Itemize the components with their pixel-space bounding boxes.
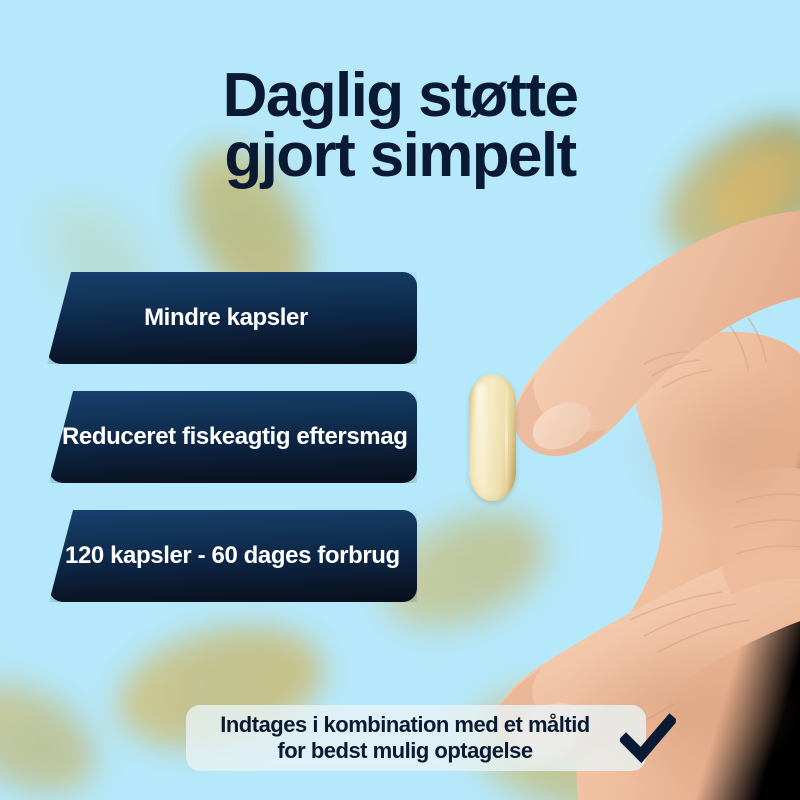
capsule	[469, 374, 516, 501]
check-icon	[620, 712, 676, 768]
feature-badge-label: 120 kapsler - 60 dages forbrug	[49, 542, 417, 570]
usage-note-line-2: for bedst mulig optagelse	[220, 738, 590, 764]
feature-badge-smaller-capsules[interactable]: Mindre kapsler	[47, 272, 417, 364]
middle-finger	[720, 467, 800, 594]
usage-note-line-1: Indtages i kombination med et måltid	[220, 712, 590, 738]
feature-badge-label: Reduceret fiskeagtig eftersmag	[49, 423, 417, 451]
headline-line-2: gjort simpelt	[0, 126, 800, 187]
feature-badge-capsule-count[interactable]: 120 kapsler - 60 dages forbrug	[49, 510, 417, 602]
headline-line-1: Daglig støtte	[0, 66, 800, 127]
index-finger	[514, 210, 800, 456]
feature-badge-list: Mindre kapsler Reduceret fiskeagtig efte…	[0, 272, 430, 629]
fingernail	[525, 393, 599, 459]
page-title: Daglig støtte gjort simpelt	[0, 66, 800, 188]
background-capsule	[0, 660, 114, 800]
usage-note-text: Indtages i kombination med et måltid for…	[220, 712, 612, 763]
promo-graphic: Daglig støtte gjort simpelt Mindre kapsl…	[0, 0, 800, 800]
feature-badge-reduced-aftertaste[interactable]: Reduceret fiskeagtig eftersmag	[49, 391, 417, 483]
feature-badge-label: Mindre kapsler	[47, 304, 417, 332]
usage-note: Indtages i kombination med et måltid for…	[186, 705, 646, 771]
